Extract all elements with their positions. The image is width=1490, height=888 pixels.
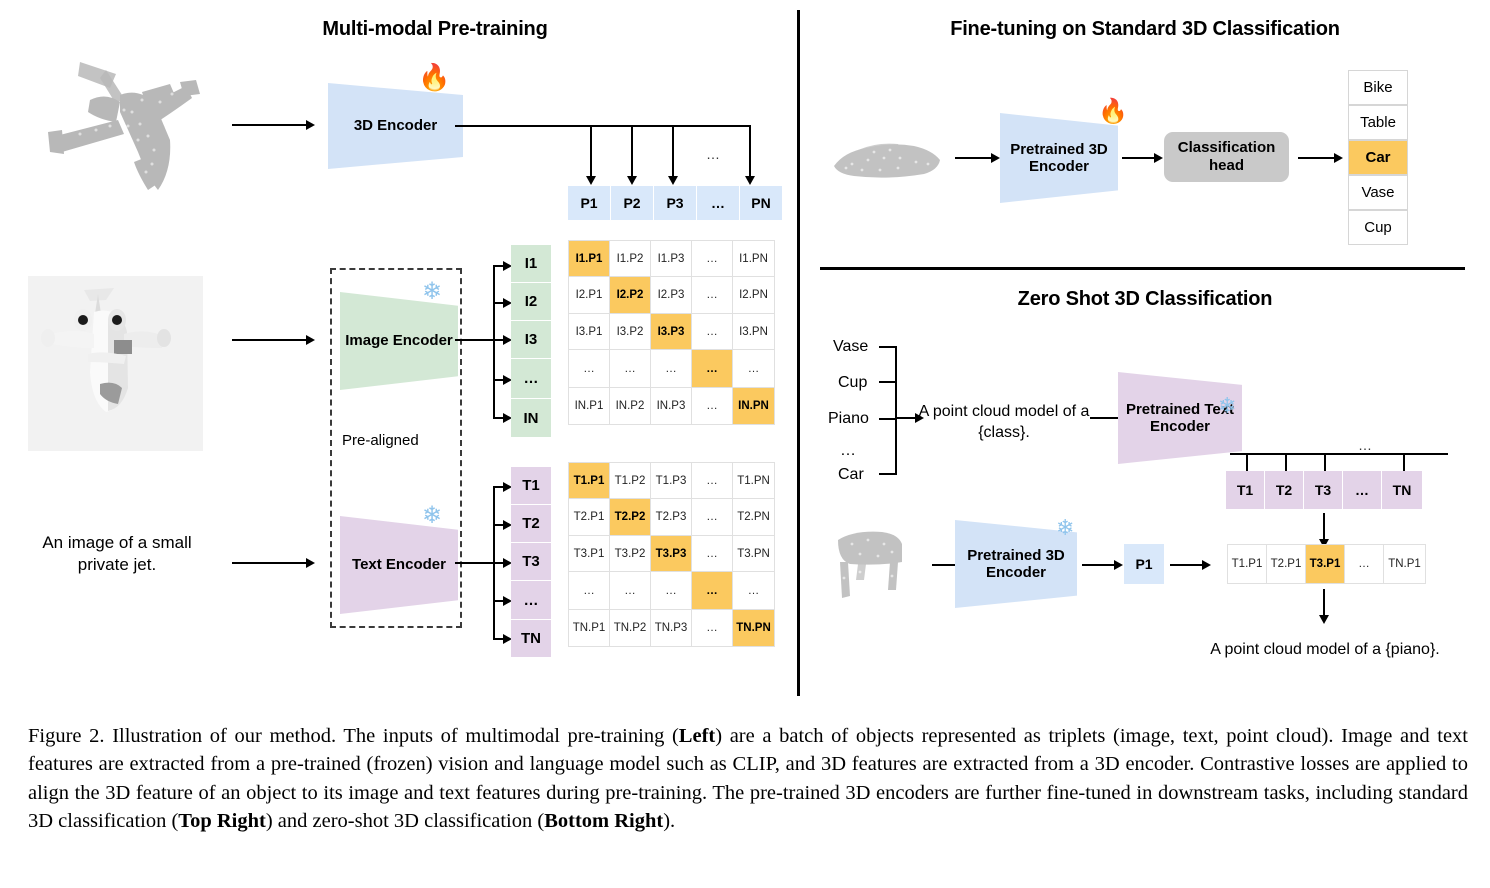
- image-token-cell: …: [511, 359, 551, 398]
- class-list-item[interactable]: Cup: [1348, 210, 1408, 245]
- zeroshot-bus-horizontal: [1230, 453, 1448, 455]
- arrowhead-pn: [745, 176, 755, 185]
- finetune-encoder-label: Pretrained 3D Encoder: [1000, 141, 1118, 176]
- arrowhead-encoder-to-head: [1154, 153, 1163, 163]
- text-encoder-label: Text Encoder: [352, 556, 446, 573]
- arrow-text-to-textencoder: [232, 562, 308, 564]
- zeroshot-text-token-cell: …: [1343, 471, 1381, 509]
- image-sim-cell: I1.P2: [609, 240, 651, 277]
- encoder-3d-box[interactable]: 3D Encoder: [328, 83, 463, 169]
- image-sim-cell-highlighted: …: [691, 349, 733, 388]
- text-sim-cell: T1.P2: [609, 462, 651, 499]
- class-list-item-selected[interactable]: Car: [1348, 140, 1408, 175]
- image-sim-cell-highlighted: I2.P2: [609, 276, 651, 314]
- image-sim-cell: IN.P2: [609, 387, 651, 425]
- zeroshot-panel-title: Zero Shot 3D Classification: [900, 288, 1390, 311]
- arrowhead-simrow-to-result: [1319, 615, 1329, 624]
- arrowhead-pointcloud-to-3dencoder: [306, 120, 315, 130]
- class-list-item[interactable]: Bike: [1348, 70, 1408, 105]
- image-sim-cell: IN.P3: [650, 387, 692, 425]
- pointcloud-piano-input: [828, 518, 920, 610]
- text-sim-cell: …: [691, 498, 733, 536]
- arrow-image-to-imageencoder: [232, 339, 308, 341]
- snowflake-icon: ❄: [1056, 517, 1074, 539]
- p-feature-cell: P3: [654, 186, 696, 220]
- text-sim-cell-highlighted: T3.P3: [650, 535, 692, 572]
- image-sim-cell-highlighted: I3.P3: [650, 313, 692, 350]
- figure-caption: Figure 2. Illustration of our method. Th…: [28, 722, 1468, 835]
- text-sim-cell: …: [609, 571, 651, 610]
- fire-icon: 🔥: [418, 64, 450, 90]
- arrow-encoder-to-head: [1122, 157, 1156, 159]
- class-list-item[interactable]: Table: [1348, 105, 1408, 140]
- arrow-simrow-to-result: [1323, 589, 1325, 617]
- text-token-cell: T1: [511, 467, 551, 504]
- image-sim-cell: …: [691, 240, 733, 277]
- arrowhead-p1-to-simrow: [1202, 560, 1211, 570]
- image-sim-cell-highlighted: I1.P1: [568, 240, 610, 277]
- fanout-text-stem: [455, 562, 495, 564]
- fanout-image-spine: [493, 265, 495, 417]
- image-sim-cell: …: [732, 349, 775, 388]
- text-sim-cell-highlighted: T1.P1: [568, 462, 610, 499]
- bus-drop-p2: [631, 125, 633, 178]
- arrow-car-to-encoder: [955, 157, 993, 159]
- arrow-p1-to-simrow: [1170, 564, 1204, 566]
- image-sim-cell: I2.P1: [568, 276, 610, 314]
- text-sim-cell-highlighted: …: [691, 571, 733, 610]
- figure-caption-text: Figure 2. Illustration of our method. Th…: [28, 725, 1468, 832]
- text-sim-cell: T3.P2: [609, 535, 651, 572]
- text-sim-cell: …: [732, 571, 775, 610]
- text-sim-cell: T2.P3: [650, 498, 692, 536]
- encoder-3d-label: 3D Encoder: [354, 117, 437, 134]
- finetune-panel-title: Fine-tuning on Standard 3D Classificatio…: [860, 18, 1430, 41]
- panel-horizontal-divider: [820, 267, 1465, 270]
- arrowhead-p2: [627, 176, 637, 185]
- p-feature-cell: P1: [568, 186, 610, 220]
- zeroshot-sim-cell: TN.P1: [1383, 544, 1426, 584]
- zeroshot-class-item: Piano: [828, 410, 869, 428]
- pointcloud-airplane-input: [20, 40, 240, 230]
- finetune-encoder-box[interactable]: Pretrained 3D Encoder: [1000, 113, 1118, 203]
- zeroshot-sim-cell: …: [1344, 544, 1384, 584]
- text-sim-cell: …: [568, 571, 610, 610]
- text-input-caption: An image of a small private jet.: [22, 532, 212, 576]
- image-sim-cell: …: [609, 349, 651, 388]
- arrowhead-image-to-imageencoder: [306, 335, 315, 345]
- arrowhead-p1: [586, 176, 596, 185]
- text-token-cell: …: [511, 581, 551, 619]
- zeroshot-sim-cell-highlighted: T3.P1: [1305, 544, 1345, 584]
- image-sim-cell: …: [650, 349, 692, 388]
- image-token-cell: I2: [511, 283, 551, 320]
- classlist-bracket-tick: [879, 473, 897, 475]
- text-token-cell: TN: [511, 620, 551, 657]
- panel-vertical-divider: [797, 10, 800, 696]
- snowflake-icon: ❄: [422, 504, 442, 528]
- bus-ellipsis-p: …: [706, 146, 721, 162]
- zeroshot-bus-ellipsis: …: [1358, 437, 1373, 453]
- pretrain-panel-title: Multi-modal Pre-training: [270, 18, 600, 41]
- p-feature-cell: P2: [611, 186, 653, 220]
- text-sim-cell: …: [650, 571, 692, 610]
- prealigned-label: Pre-aligned: [342, 432, 419, 449]
- image-sim-cell-highlighted: IN.PN: [732, 387, 775, 425]
- zeroshot-sim-cell: T2.P1: [1266, 544, 1306, 584]
- arrow-head-to-classlist: [1298, 157, 1336, 159]
- snowflake-icon: ❄: [1218, 395, 1236, 417]
- text-sim-cell: T2.P1: [568, 498, 610, 536]
- arrowhead-encoder-to-p1: [1114, 560, 1123, 570]
- text-sim-cell: …: [691, 462, 733, 499]
- zeroshot-text-token-cell: T2: [1265, 471, 1303, 509]
- zeroshot-3d-encoder-label: Pretrained 3D Encoder: [955, 547, 1077, 582]
- image-sim-cell: …: [691, 276, 733, 314]
- classlist-bracket-tick: [879, 346, 897, 348]
- zeroshot-class-item: Car: [838, 466, 864, 484]
- image-sim-cell: …: [568, 349, 610, 388]
- image-sim-cell: …: [691, 313, 733, 350]
- text-encoder-box[interactable]: Text Encoder: [340, 516, 458, 614]
- image-token-cell: I3: [511, 321, 551, 358]
- fanout-image-stem: [455, 339, 495, 341]
- bus-drop-p3: [672, 125, 674, 178]
- text-sim-cell: …: [691, 609, 733, 647]
- text-token-cell: T2: [511, 505, 551, 542]
- zeroshot-class-item: Vase: [833, 338, 868, 356]
- classification-head-box[interactable]: Classification head: [1164, 132, 1289, 182]
- arrow-pointcloud-to-3dencoder: [232, 124, 308, 126]
- image-encoder-label: Image Encoder: [345, 332, 453, 349]
- text-sim-cell: TN.P2: [609, 609, 651, 647]
- zeroshot-sim-cell: T1.P1: [1227, 544, 1267, 584]
- text-token-cell: T3: [511, 543, 551, 580]
- classification-head-label: Classification head: [1164, 139, 1289, 175]
- text-sim-cell: T1.PN: [732, 462, 775, 499]
- p-feature-cell: …: [697, 186, 739, 220]
- image-sim-cell: …: [691, 387, 733, 425]
- class-list-item[interactable]: Vase: [1348, 175, 1408, 210]
- text-sim-cell: TN.P3: [650, 609, 692, 647]
- p-feature-cell: PN: [740, 186, 782, 220]
- image-sim-cell: I1.PN: [732, 240, 775, 277]
- classlist-bracket-tick: [879, 381, 897, 383]
- arrow-encoder-to-p1: [1082, 564, 1116, 566]
- image-sim-cell: IN.P1: [568, 387, 610, 425]
- fire-icon: 🔥: [1098, 100, 1128, 124]
- bus-3dencoder-horizontal: [455, 125, 751, 127]
- bus-drop-p1: [590, 125, 592, 178]
- text-sim-cell: T3.P1: [568, 535, 610, 572]
- zeroshot-result-text: A point cloud model of a {piano}.: [1190, 640, 1460, 661]
- image-sim-cell: I2.PN: [732, 276, 775, 314]
- text-sim-cell: T2.PN: [732, 498, 775, 536]
- zeroshot-class-item: …: [840, 442, 857, 460]
- image-token-cell: IN: [511, 399, 551, 437]
- arrowhead-text-to-textencoder: [306, 558, 315, 568]
- zeroshot-text-token-cell: TN: [1382, 471, 1422, 509]
- pointcloud-car-input: [828, 130, 948, 190]
- arrowhead-car-to-encoder: [991, 153, 1000, 163]
- text-sim-cell-highlighted: TN.PN: [732, 609, 775, 647]
- arrowhead-head-to-classlist: [1334, 153, 1343, 163]
- image-sim-cell: I2.P3: [650, 276, 692, 314]
- text-sim-cell-highlighted: T2.P2: [609, 498, 651, 536]
- rendered-image-input: [28, 276, 203, 451]
- image-sim-cell: I3.P1: [568, 313, 610, 350]
- arrowhead-p3: [668, 176, 678, 185]
- snowflake-icon: ❄: [422, 280, 442, 304]
- image-sim-cell: I3.PN: [732, 313, 775, 350]
- text-sim-cell: T3.PN: [732, 535, 775, 572]
- image-sim-cell: I3.P2: [609, 313, 651, 350]
- zeroshot-prompt-text: A point cloud model of a {class}.: [908, 402, 1100, 444]
- image-sim-cell: I1.P3: [650, 240, 692, 277]
- zeroshot-text-encoder-box[interactable]: Pretrained Text Encoder: [1118, 372, 1242, 464]
- zeroshot-text-token-cell: T1: [1226, 471, 1264, 509]
- zeroshot-text-token-cell: T3: [1304, 471, 1342, 509]
- arrow-ttokens-to-simrow: [1323, 513, 1325, 541]
- zeroshot-p1-cell: P1: [1124, 544, 1164, 584]
- image-encoder-box[interactable]: Image Encoder: [340, 292, 458, 390]
- image-token-cell: I1: [511, 245, 551, 282]
- zeroshot-class-item: Cup: [838, 374, 867, 392]
- text-sim-cell: …: [691, 535, 733, 572]
- classlist-bracket-spine: [895, 346, 897, 474]
- text-sim-cell: TN.P1: [568, 609, 610, 647]
- arrow-prompt-to-textencoder: [1090, 417, 1122, 419]
- text-sim-cell: T1.P3: [650, 462, 692, 499]
- bus-drop-pn: [749, 125, 751, 178]
